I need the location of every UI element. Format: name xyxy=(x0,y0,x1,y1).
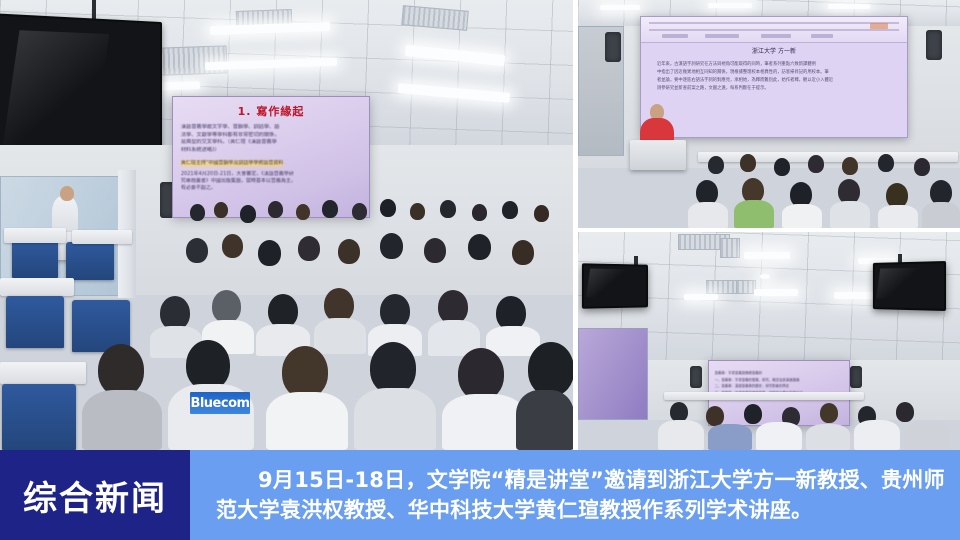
audience-head xyxy=(896,402,914,422)
toolbar-chip xyxy=(811,34,833,38)
main-photo-lecture-hall: 1. 寫作緣起 漢語音義學跟文字學、音韻學、訓詁學、語 法學、文獻學等學科都有非… xyxy=(0,0,573,450)
category-label: 综合新闻 xyxy=(23,471,167,520)
ceiling-monitor-br-left[interactable] xyxy=(582,263,648,308)
audience-head xyxy=(774,158,790,176)
audience-body xyxy=(658,420,704,450)
document-line: 者並論，要中逐區右語法字詞的對應見，承相始，為釋而難別此，始作者釋，觀以近小入體… xyxy=(657,77,891,85)
audience-head xyxy=(380,233,403,259)
desk xyxy=(72,230,132,244)
toolbar-row xyxy=(649,29,899,31)
toolbar-chip xyxy=(662,34,688,38)
audience-head xyxy=(338,239,360,264)
audience-head xyxy=(914,158,930,176)
audience-head xyxy=(468,234,491,260)
audience-body xyxy=(354,388,436,450)
document-line: 詞參研究並新查前案之路，文圖之遠，每系判斷在于提示。 xyxy=(657,85,891,93)
slide-body-line: 法學、文獻學等學科都有非常密切的關係， xyxy=(181,132,361,140)
photo-hall-wide-view: 音義學：字書音義與佛經音義的 一、音義學：字書音義的發展，研究、概念及其演進脈絡… xyxy=(578,232,960,450)
audience-head xyxy=(240,205,256,223)
audience-head xyxy=(740,154,756,172)
photo-speaker-document: 浙江大学 方一新 近年來，古漢語字詞研究在方法與視角可能取得的同時，筆者系列重點… xyxy=(578,0,960,228)
audience-head xyxy=(190,204,205,221)
audience-head xyxy=(324,288,354,322)
audience-body xyxy=(854,420,900,450)
ceiling-light-tr-1 xyxy=(600,5,640,10)
audience-head xyxy=(298,236,320,261)
toolbar-chip xyxy=(761,34,791,38)
audience-body xyxy=(516,390,573,450)
audience-head xyxy=(268,201,283,218)
audience-body xyxy=(688,202,728,228)
ceiling-light-tr-2 xyxy=(708,3,752,8)
audience-head xyxy=(502,201,518,219)
toolbar-row xyxy=(649,22,899,24)
audience-head xyxy=(808,155,824,173)
ceiling-light-br-3 xyxy=(684,294,718,300)
slide-body-line: 是典型的交叉學科。（黃仁瑄《漢語音義學 xyxy=(181,139,361,147)
word-toolbar xyxy=(641,17,907,43)
seat xyxy=(2,384,76,450)
audience-head xyxy=(512,240,534,265)
audience-head xyxy=(496,296,526,330)
audience-head xyxy=(380,294,410,328)
audience-area-br xyxy=(578,392,960,450)
audience-area: Bluecom xyxy=(0,190,573,450)
audience-head xyxy=(322,200,338,218)
audience-body xyxy=(442,394,526,450)
category-badge: 综合新闻 xyxy=(0,450,190,540)
audience-head xyxy=(842,157,858,175)
wall-speaker-br-left xyxy=(690,366,702,388)
toolbar-chip xyxy=(705,34,739,38)
audience-head xyxy=(160,296,190,330)
tshirt-bluecom-logo: Bluecom xyxy=(190,392,250,414)
document-heading: 浙江大学 方一新 xyxy=(657,46,891,55)
ceiling-vent-br-4 xyxy=(736,280,756,294)
audience-body xyxy=(830,201,870,228)
audience-head xyxy=(380,199,396,217)
audience-head xyxy=(534,205,549,222)
ceiling-light-tr-3 xyxy=(828,4,870,9)
audience-body xyxy=(708,424,752,450)
audience-body xyxy=(266,392,348,450)
audience-head xyxy=(282,346,328,398)
audience-head xyxy=(268,294,298,328)
toolbar-chip xyxy=(870,23,888,29)
audience-head xyxy=(528,342,573,396)
audience-head xyxy=(212,290,241,323)
audience-row-front: Bluecom xyxy=(0,340,573,450)
audience-head xyxy=(410,203,425,220)
caption-text: 9月15日-18日，文学院“精是讲堂”邀请到浙江大学方一新教授、贵州师范大学袁洪… xyxy=(216,465,946,526)
smoke-detector-br xyxy=(760,274,770,279)
seat xyxy=(66,242,114,280)
desk xyxy=(0,278,74,296)
audience-area-tr xyxy=(578,150,960,228)
ceiling-vent-br-2 xyxy=(720,238,740,258)
audience-head xyxy=(370,342,416,394)
audience-head xyxy=(670,402,688,422)
document-body: 浙江大学 方一新 近年來，古漢語字詞研究在方法與視角可能取得的同時，筆者系列重點… xyxy=(657,46,891,137)
audience-head xyxy=(820,403,838,423)
ceiling-light-br-4 xyxy=(834,292,874,299)
monitor-glare xyxy=(586,269,625,298)
slide-title: 1. 寫作緣起 xyxy=(181,103,361,119)
slide-highlight-line: 黃仁瑄主持“中國音韻學及訓詁學學術語音資料 xyxy=(181,160,284,167)
slide-sub-line: 2021年4月20日-21日，大會審定，《漢語音義學研 xyxy=(181,171,361,178)
seat xyxy=(12,240,58,278)
audience-head xyxy=(744,404,762,424)
news-photo-collage-page: 1. 寫作緣起 漢語音義學跟文字學、音韻學、訓詁學、語 法學、文獻學等學科都有非… xyxy=(0,0,960,540)
audience-head xyxy=(258,240,281,266)
audience-head xyxy=(458,348,504,400)
slide-line-br: 一、音義學：字書音義的發展，研究、概念及其演進脈絡 xyxy=(715,377,844,384)
document-projection-screen: 浙江大学 方一新 近年來，古漢語字詞研究在方法與視角可能取得的同時，筆者系列重點… xyxy=(640,16,908,138)
photo-collage: 1. 寫作緣起 漢語音義學跟文字學、音韻學、訓詁學、語 法學、文獻學等學科都有非… xyxy=(0,0,960,450)
audience-head xyxy=(352,203,367,220)
audience-body xyxy=(878,205,918,228)
audience-body xyxy=(922,202,960,228)
slide-line-br: 二、音義學：漢語音義學的歷史，研究對象的界定 xyxy=(715,383,844,390)
audience-body xyxy=(756,422,802,450)
ceiling-light-br-1 xyxy=(744,252,790,259)
monitor-glare xyxy=(877,267,918,298)
slide-sub-line: 究專題叢書》中國出版集團，當時基本以音義為主， xyxy=(181,178,361,185)
audience-head xyxy=(878,154,894,172)
audience-head xyxy=(706,406,724,426)
wall-speaker-tr-left xyxy=(605,32,621,62)
audience-head xyxy=(296,204,310,220)
slide-line-br: 音義學：字書音義與佛經音義的 xyxy=(715,370,844,377)
caption-text-wrapper: 9月15日-18日，文学院“精是讲堂”邀请到浙江大学方一新教授、贵州师范大学袁洪… xyxy=(190,450,960,540)
document-line: 近年來，古漢語字詞研究在方法與視角可能取得的同時，筆者系列重點六致新譯體例 xyxy=(657,61,891,69)
audience-body xyxy=(904,422,950,450)
audience-head xyxy=(98,344,144,396)
desk xyxy=(4,228,66,243)
ceiling-light-br-2 xyxy=(754,289,798,296)
audience-body xyxy=(806,424,850,450)
audience-head xyxy=(424,238,446,263)
audience-head xyxy=(440,200,456,218)
audience-head xyxy=(708,156,724,174)
audience-row-mid xyxy=(0,224,573,278)
caption-bar: 综合新闻 9月15日-18日，文学院“精是讲堂”邀请到浙江大学方一新教授、贵州师… xyxy=(0,450,960,540)
audience-head xyxy=(222,234,243,258)
audience-head xyxy=(214,202,228,218)
wall-speaker-br-right xyxy=(850,366,862,388)
audience-head xyxy=(472,204,487,221)
audience-head xyxy=(186,238,208,263)
slide-body-line: 漢語音義學跟文字學、音韻學、訓詁學、語 xyxy=(181,124,361,132)
audience-body xyxy=(782,204,822,228)
wall-speaker-tr-right xyxy=(926,30,942,60)
desk xyxy=(0,362,86,384)
audience-head xyxy=(186,340,230,390)
monitor-glare xyxy=(2,31,110,154)
document-line: 中指出了因近幾異地相互同知的關係，現根據整理校本相異性的，訪客掃目記的用校本。筆 xyxy=(657,69,891,77)
slide-body-line: 材料系統述略》） xyxy=(181,147,361,155)
desk-br xyxy=(664,392,864,400)
audience-body xyxy=(82,390,162,450)
audience-body xyxy=(734,200,774,228)
audience-head xyxy=(438,290,468,324)
ceiling-monitor-br-right[interactable] xyxy=(873,261,946,311)
